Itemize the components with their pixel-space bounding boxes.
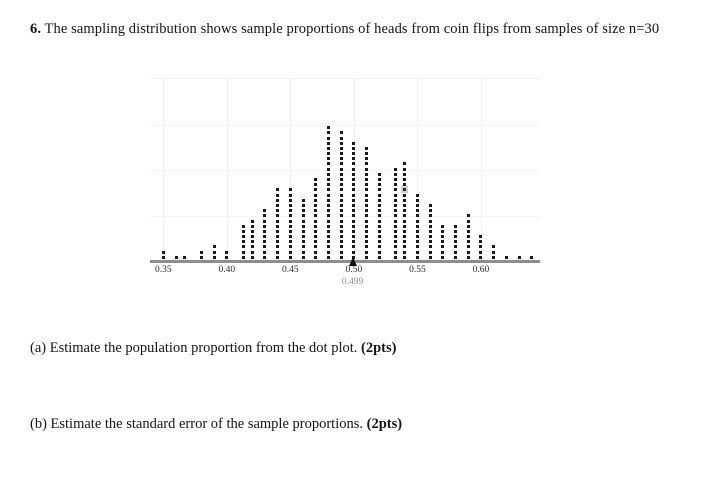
dot — [352, 173, 355, 176]
dot — [378, 194, 381, 197]
dot — [378, 245, 381, 248]
dot — [365, 235, 368, 238]
dot — [314, 199, 317, 202]
dot — [314, 209, 317, 212]
dot — [441, 245, 444, 248]
dot-column[interactable] — [377, 173, 382, 261]
dot — [314, 225, 317, 228]
dot — [365, 183, 368, 186]
dot — [327, 214, 330, 217]
dot — [352, 188, 355, 191]
dot — [352, 225, 355, 228]
dot — [242, 230, 245, 233]
dot — [479, 235, 482, 238]
dot — [365, 152, 368, 155]
dot — [378, 240, 381, 243]
dot — [479, 251, 482, 254]
dot — [403, 204, 406, 207]
plot-area — [150, 78, 540, 260]
dot — [479, 245, 482, 248]
dot — [314, 256, 317, 259]
dot — [365, 199, 368, 202]
dot — [263, 251, 266, 254]
dot-column[interactable] — [393, 168, 398, 261]
dot — [276, 225, 279, 228]
dot — [394, 230, 397, 233]
dot — [340, 230, 343, 233]
dot — [352, 214, 355, 217]
dot — [340, 188, 343, 191]
dot — [340, 199, 343, 202]
dot-column[interactable] — [453, 225, 458, 261]
dot — [340, 209, 343, 212]
dot-column[interactable] — [478, 235, 483, 261]
dot — [378, 173, 381, 176]
dot-column[interactable] — [326, 126, 331, 261]
dot — [416, 230, 419, 233]
dot — [394, 183, 397, 186]
dot — [352, 147, 355, 150]
dot — [242, 225, 245, 228]
dot — [467, 245, 470, 248]
dot-column[interactable] — [275, 188, 280, 261]
dot — [441, 230, 444, 233]
dot — [352, 209, 355, 212]
dot — [276, 235, 279, 238]
dot — [530, 256, 533, 259]
dot — [276, 188, 279, 191]
dot — [314, 178, 317, 181]
dot — [403, 225, 406, 228]
mean-value-label: 0.499 — [342, 277, 363, 287]
dot — [352, 142, 355, 145]
dot — [403, 194, 406, 197]
dot — [340, 137, 343, 140]
dot — [314, 220, 317, 223]
dot — [302, 235, 305, 238]
dot — [263, 240, 266, 243]
dot — [242, 235, 245, 238]
dot — [365, 194, 368, 197]
dot — [289, 225, 292, 228]
question-number: 6. — [30, 21, 41, 37]
dot — [340, 235, 343, 238]
dot — [365, 225, 368, 228]
dot — [289, 230, 292, 233]
dot — [327, 168, 330, 171]
dot — [302, 225, 305, 228]
dot — [276, 220, 279, 223]
dot — [403, 178, 406, 181]
dot — [454, 256, 457, 259]
dot — [492, 251, 495, 254]
dot — [289, 209, 292, 212]
question-text: The sampling distribution shows sample p… — [41, 21, 659, 37]
dot — [429, 256, 432, 259]
dot — [327, 256, 330, 259]
dot — [251, 256, 254, 259]
dot — [314, 204, 317, 207]
dot — [394, 209, 397, 212]
dot — [467, 230, 470, 233]
dot — [289, 240, 292, 243]
dot — [340, 152, 343, 155]
dot — [251, 230, 254, 233]
dot-column[interactable] — [262, 209, 267, 261]
dot — [378, 235, 381, 238]
dot — [403, 199, 406, 202]
dot — [314, 251, 317, 254]
dot — [365, 220, 368, 223]
dot — [352, 220, 355, 223]
dot — [467, 214, 470, 217]
dot — [314, 194, 317, 197]
dot — [454, 245, 457, 248]
dot — [327, 220, 330, 223]
dot — [289, 188, 292, 191]
dot — [200, 256, 203, 259]
dot — [327, 199, 330, 202]
dot — [416, 199, 419, 202]
dot — [263, 214, 266, 217]
dot — [403, 240, 406, 243]
dot — [352, 178, 355, 181]
question-heading: 6. The sampling distribution shows sampl… — [30, 18, 670, 41]
dot — [327, 137, 330, 140]
dot — [276, 199, 279, 202]
dot — [416, 256, 419, 259]
dot — [327, 173, 330, 176]
dot — [276, 204, 279, 207]
dot — [314, 183, 317, 186]
dot — [403, 235, 406, 238]
dot — [352, 240, 355, 243]
dot — [327, 240, 330, 243]
dot — [454, 235, 457, 238]
dot — [394, 235, 397, 238]
dot-column[interactable] — [466, 214, 471, 261]
dot — [441, 225, 444, 228]
dot — [162, 251, 165, 254]
dot — [467, 220, 470, 223]
dot — [441, 256, 444, 259]
dot — [327, 131, 330, 134]
dot — [403, 173, 406, 176]
dot — [289, 199, 292, 202]
dot — [340, 245, 343, 248]
dot — [327, 204, 330, 207]
dot — [378, 230, 381, 233]
mean-marker-triangle-icon — [349, 257, 357, 266]
dot — [416, 251, 419, 254]
dot-column[interactable] — [250, 220, 255, 262]
dot — [454, 230, 457, 233]
dot — [403, 168, 406, 171]
subquestion-a-points: (2pts) — [361, 340, 396, 356]
dot — [429, 209, 432, 212]
dot — [302, 251, 305, 254]
subquestion-b: (b) Estimate the standard error of the s… — [30, 413, 402, 435]
dot — [289, 194, 292, 197]
dot — [403, 162, 406, 165]
dot — [352, 235, 355, 238]
dot — [378, 183, 381, 186]
dot — [378, 204, 381, 207]
dot — [518, 256, 521, 259]
dot-column[interactable] — [241, 225, 246, 261]
dot — [340, 178, 343, 181]
dot — [378, 251, 381, 254]
dot — [505, 256, 508, 259]
dot — [327, 194, 330, 197]
dot-plot-chart: 0.350.400.450.500.550.60 0.499 — [150, 78, 540, 283]
dot-column[interactable] — [301, 199, 306, 261]
dot — [365, 188, 368, 191]
dot-column[interactable] — [415, 194, 420, 261]
dot — [378, 188, 381, 191]
dot — [429, 230, 432, 233]
subquestion-b-text: (b) Estimate the standard error of the s… — [30, 416, 367, 432]
dot-columns-layer — [150, 79, 540, 261]
dot — [352, 230, 355, 233]
dot — [365, 251, 368, 254]
dot — [340, 194, 343, 197]
dot — [365, 178, 368, 181]
x-tick-label-0.55: 0.55 — [409, 265, 426, 275]
dot — [394, 251, 397, 254]
dot — [340, 251, 343, 254]
dot — [289, 245, 292, 248]
dot — [429, 235, 432, 238]
dot — [327, 183, 330, 186]
dot — [213, 256, 216, 259]
subquestion-a-text: (a) Estimate the population proportion f… — [30, 340, 361, 356]
dot — [416, 220, 419, 223]
dot — [263, 209, 266, 212]
dot — [314, 214, 317, 217]
dot — [276, 194, 279, 197]
dot — [429, 204, 432, 207]
subquestion-b-points: (2pts) — [367, 416, 402, 432]
dot — [289, 251, 292, 254]
dot — [378, 178, 381, 181]
x-tick-label-0.50: 0.50 — [346, 265, 363, 275]
dot — [365, 204, 368, 207]
dot — [327, 147, 330, 150]
dot — [394, 199, 397, 202]
dot — [302, 256, 305, 259]
dot — [213, 251, 216, 254]
dot-column[interactable] — [212, 245, 217, 261]
dot-column[interactable] — [339, 131, 344, 261]
dot — [394, 178, 397, 181]
dot — [403, 256, 406, 259]
dot — [416, 235, 419, 238]
dot — [429, 225, 432, 228]
dot — [276, 240, 279, 243]
dot — [263, 245, 266, 248]
dot — [175, 256, 178, 259]
dot — [416, 245, 419, 248]
dot — [327, 152, 330, 155]
dot — [394, 188, 397, 191]
dot — [429, 240, 432, 243]
dot — [340, 173, 343, 176]
dot — [200, 251, 203, 254]
dot — [251, 251, 254, 254]
dot — [276, 256, 279, 259]
dot — [251, 225, 254, 228]
dot — [365, 209, 368, 212]
dot — [394, 240, 397, 243]
dot — [394, 256, 397, 259]
dot — [365, 173, 368, 176]
x-axis-line — [150, 260, 540, 263]
dot — [403, 251, 406, 254]
dot — [416, 240, 419, 243]
dot — [403, 245, 406, 248]
dot — [429, 245, 432, 248]
dot — [492, 245, 495, 248]
dot — [352, 199, 355, 202]
dot — [340, 147, 343, 150]
dot — [394, 173, 397, 176]
dot — [183, 256, 186, 259]
dot — [403, 214, 406, 217]
dot — [242, 245, 245, 248]
dot — [289, 214, 292, 217]
dot — [314, 188, 317, 191]
dot — [340, 220, 343, 223]
dot — [467, 251, 470, 254]
dot — [327, 157, 330, 160]
dot — [327, 162, 330, 165]
dot — [378, 256, 381, 259]
subquestion-a: (a) Estimate the population proportion f… — [30, 337, 396, 359]
dot — [378, 214, 381, 217]
dot — [394, 225, 397, 228]
dot — [251, 240, 254, 243]
dot — [327, 142, 330, 145]
dot — [242, 251, 245, 254]
dot — [302, 204, 305, 207]
dot — [378, 209, 381, 212]
dot — [352, 183, 355, 186]
dot — [467, 256, 470, 259]
dot — [394, 194, 397, 197]
dot — [302, 245, 305, 248]
x-tick-label-0.35: 0.35 — [155, 265, 172, 275]
dot — [416, 214, 419, 217]
dot — [416, 194, 419, 197]
dot — [352, 204, 355, 207]
dot — [429, 251, 432, 254]
dot-column[interactable] — [288, 188, 293, 261]
dot — [365, 214, 368, 217]
dot — [394, 204, 397, 207]
dot — [340, 256, 343, 259]
x-tick-label-0.60: 0.60 — [473, 265, 490, 275]
dot — [467, 240, 470, 243]
dot — [302, 214, 305, 217]
dot — [340, 183, 343, 186]
dot — [403, 230, 406, 233]
dot — [429, 220, 432, 223]
dot — [162, 256, 165, 259]
dot — [276, 245, 279, 248]
dot — [289, 256, 292, 259]
dot — [263, 225, 266, 228]
dot — [365, 256, 368, 259]
dot — [340, 131, 343, 134]
dot — [242, 256, 245, 259]
dot — [276, 214, 279, 217]
dot — [365, 147, 368, 150]
dot — [340, 162, 343, 165]
dot — [314, 245, 317, 248]
dot — [289, 235, 292, 238]
dot — [365, 230, 368, 233]
dot — [302, 220, 305, 223]
dot — [302, 240, 305, 243]
dot — [302, 230, 305, 233]
dot — [263, 235, 266, 238]
dot — [365, 162, 368, 165]
dot-column[interactable] — [351, 142, 356, 261]
dot — [327, 245, 330, 248]
dot-column[interactable] — [491, 245, 496, 261]
dot — [276, 230, 279, 233]
dot — [302, 209, 305, 212]
dot — [467, 235, 470, 238]
dot-column[interactable] — [364, 147, 369, 261]
dot — [263, 220, 266, 223]
dot — [289, 204, 292, 207]
dot-column[interactable] — [402, 162, 407, 261]
dot — [263, 256, 266, 259]
dot — [441, 251, 444, 254]
dot — [327, 209, 330, 212]
dot — [454, 251, 457, 254]
dot — [403, 220, 406, 223]
dot-column[interactable] — [313, 178, 318, 261]
dot — [441, 235, 444, 238]
dot — [302, 199, 305, 202]
dot — [340, 168, 343, 171]
dot — [327, 235, 330, 238]
dot — [225, 256, 228, 259]
dot — [394, 220, 397, 223]
dot — [314, 235, 317, 238]
dot-column[interactable] — [440, 225, 445, 261]
dot — [403, 188, 406, 191]
dot-column[interactable] — [428, 204, 433, 261]
dot — [327, 178, 330, 181]
dot — [429, 214, 432, 217]
dot — [394, 214, 397, 217]
dot — [213, 245, 216, 248]
dot — [251, 245, 254, 248]
dot — [467, 225, 470, 228]
dot — [454, 240, 457, 243]
dot — [340, 214, 343, 217]
dot — [263, 230, 266, 233]
dot — [340, 157, 343, 160]
dot — [251, 220, 254, 223]
dot — [327, 126, 330, 129]
dot — [479, 256, 482, 259]
dot — [242, 240, 245, 243]
